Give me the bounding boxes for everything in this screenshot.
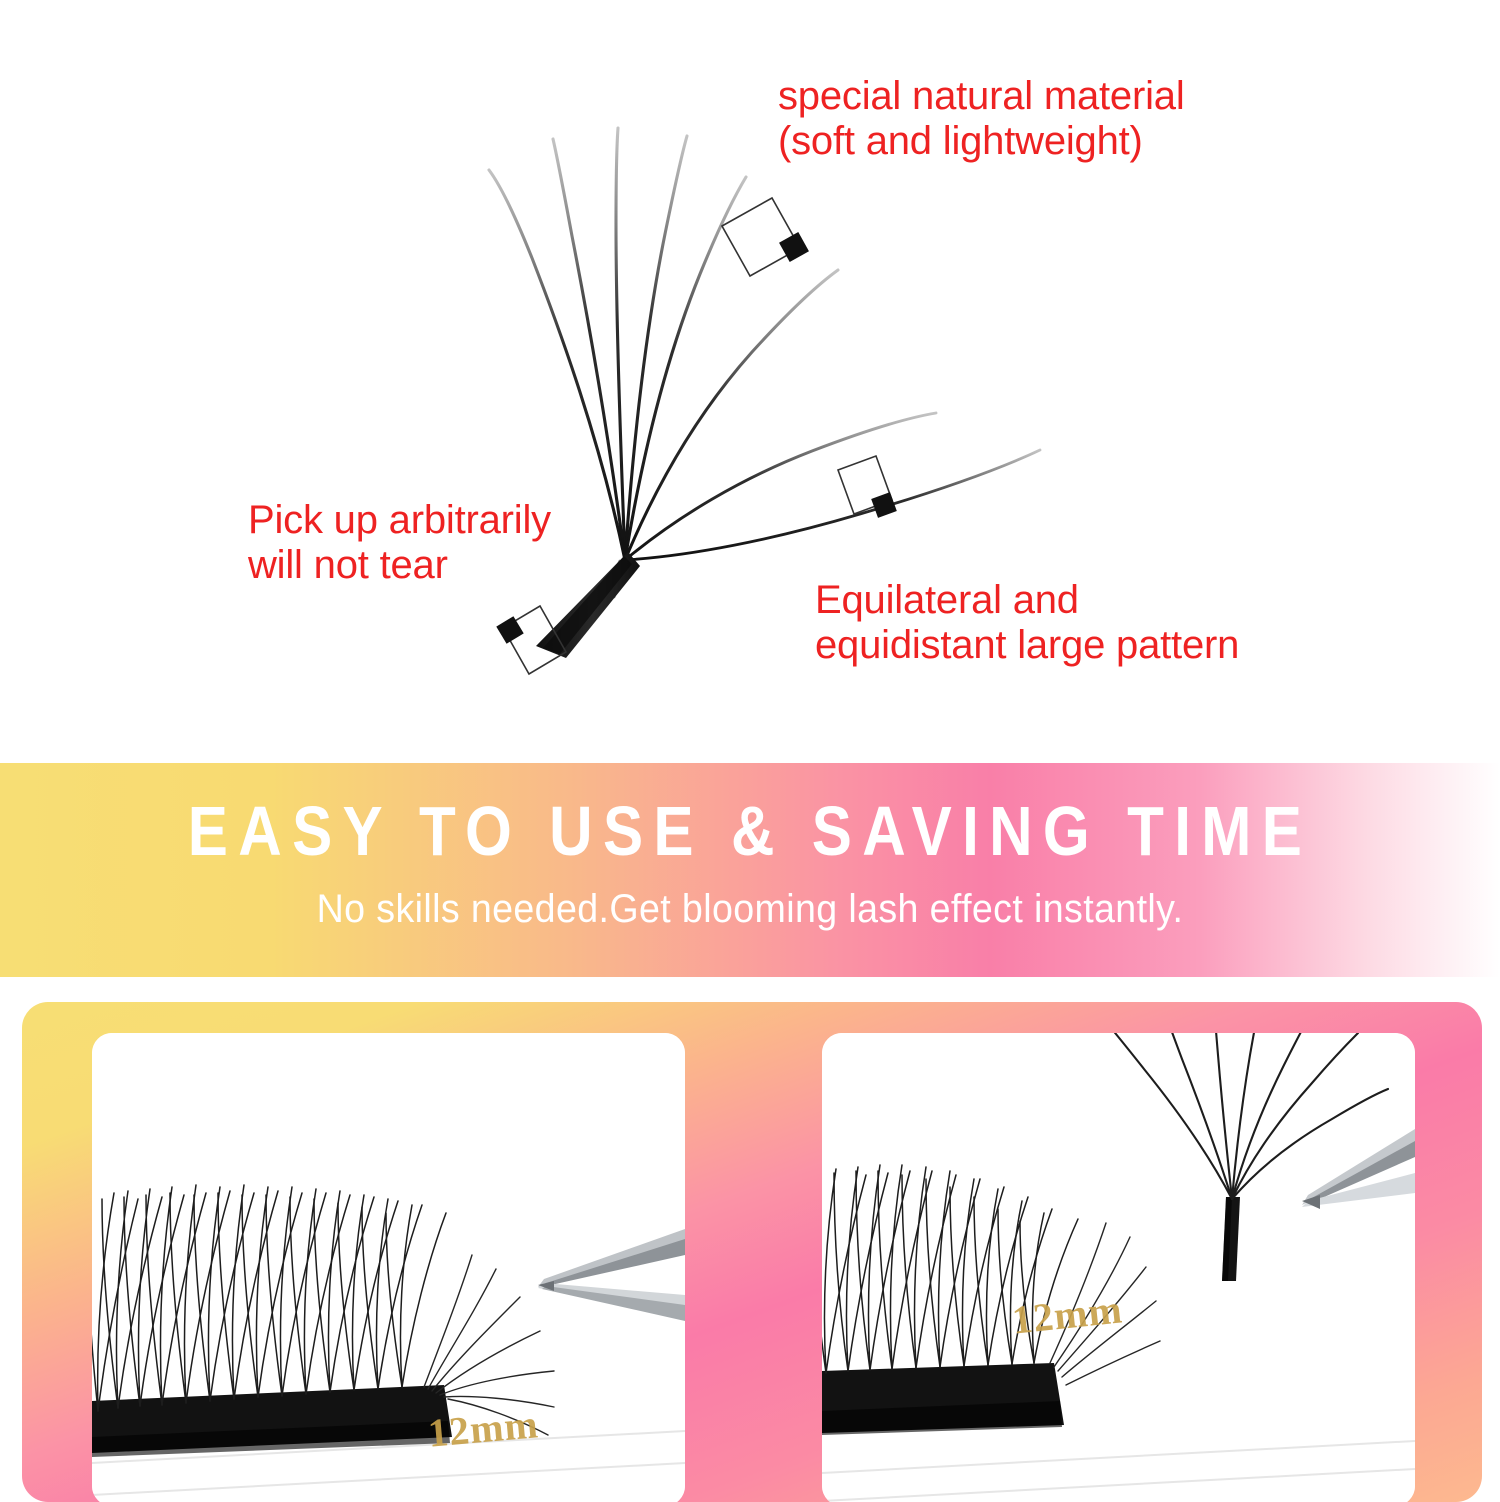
callout-equilateral-equidistant: Equilateral and equidistant large patter… [815, 578, 1239, 668]
callout-special-natural-material: special natural material (soft and light… [778, 74, 1185, 164]
lash-fibers [489, 128, 1040, 560]
callout-marker-right [838, 456, 897, 518]
banner-subheadline: No skills needed.Get blooming lash effec… [45, 887, 1455, 932]
lash-fan-diagram [0, 0, 1500, 763]
lash-base-strip [536, 552, 640, 658]
photo-card-lash-pickup: 12mm [822, 1033, 1415, 1502]
lash-pickup-photo [822, 1033, 1415, 1502]
size-label-12mm-left: 12mm [426, 1400, 540, 1456]
product-photo-panel: 12mm [22, 1002, 1482, 1502]
callout-pick-up-arbitrarily: Pick up arbitrarily will not tear [248, 498, 551, 588]
photo-card-lash-tray: 12mm [92, 1033, 685, 1502]
lash-tray-photo [92, 1033, 685, 1502]
hero-diagram-section: special natural material (soft and light… [0, 0, 1500, 763]
callout-marker-top [722, 198, 809, 276]
gradient-banner: EASY TO USE & SAVING TIME No skills need… [0, 763, 1500, 977]
banner-headline: EASY TO USE & SAVING TIME [105, 791, 1395, 871]
